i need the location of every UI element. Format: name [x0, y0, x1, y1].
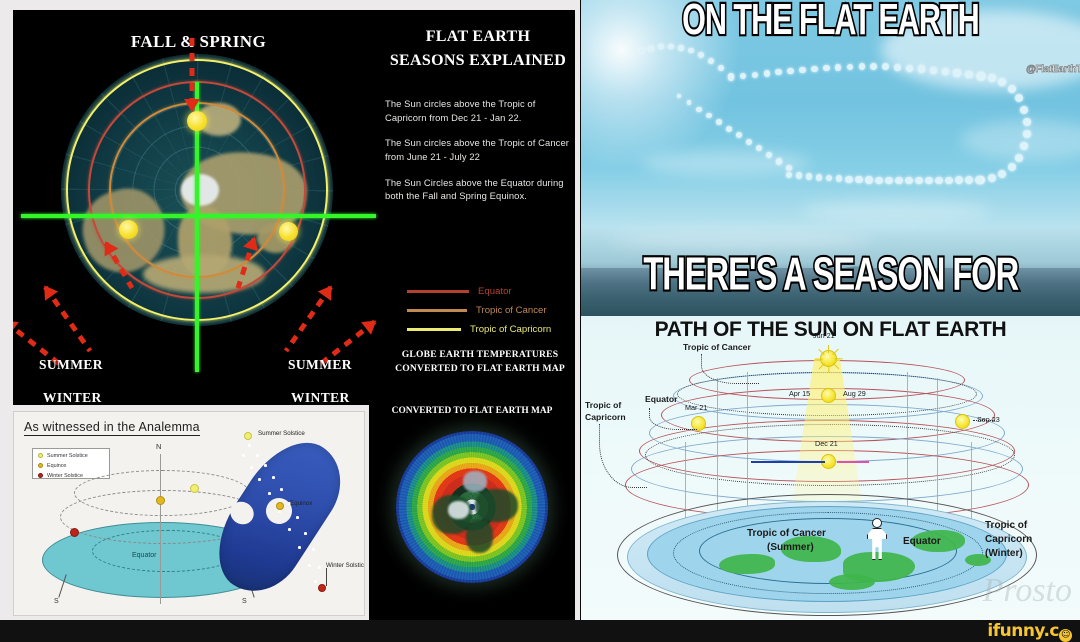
- legend-label-equator: Equator: [478, 286, 512, 297]
- sun-apr15-aug29: [821, 388, 836, 403]
- analemma-legend-label-equinox: Equinox: [47, 463, 66, 469]
- dashed-arrow-fall-spring: [184, 38, 200, 110]
- legend-label-tropic-of-capricorn: Tropic of Capricorn: [470, 324, 551, 335]
- sun-path-dot: [906, 65, 913, 72]
- disc-label-tropic-of-capricorn-line2: Capricorn: [985, 534, 1032, 546]
- analemma-figure-eight: Summer Solstice Equinox Winter Solstice: [222, 428, 346, 606]
- sun-marker-right: [279, 222, 298, 241]
- sun-path-dot: [706, 113, 711, 118]
- sun-path-dot: [930, 67, 937, 74]
- sun-path-dot: [977, 72, 985, 80]
- observer-figure-icon: [867, 518, 887, 560]
- sun-path-dot: [835, 64, 842, 71]
- sun-path-dot: [865, 176, 872, 183]
- sun-path-dot: [859, 63, 866, 70]
- temperature-globe-image: [396, 431, 548, 583]
- sun-path-dot: [816, 174, 823, 181]
- sun-path-dot: [988, 74, 996, 82]
- sun-path-dot: [925, 177, 933, 185]
- sun-path-dot: [988, 174, 996, 182]
- sun-path-dot: [998, 170, 1006, 178]
- sun-path-dot: [668, 44, 673, 49]
- analemma-legend-row-equinox: Equinox: [36, 461, 106, 470]
- meme-image: FALL & SPRING: [0, 0, 1080, 642]
- analemma-marker-equinox: [276, 502, 284, 510]
- sun-path-dot: [953, 69, 960, 76]
- sun-path-dot: [658, 44, 663, 49]
- analemma-legend-dot-winter-solstice: [38, 473, 43, 478]
- analemma-sun-winter-solstice: [70, 528, 79, 537]
- sun-marker-left: [119, 220, 138, 239]
- sun-path-dot: [746, 139, 752, 145]
- analemma-polar-axis: [160, 454, 161, 604]
- sun-path-dot: [776, 158, 782, 164]
- disc-label-tropic-of-cancer-line2: (Summer): [767, 542, 814, 554]
- sun-path-dot: [639, 48, 644, 53]
- temperature-globe-card: CONVERTED TO FLAT EARTH MAP: [369, 404, 575, 620]
- sun-path-dot: [726, 126, 732, 132]
- sun-path-dot: [764, 70, 770, 76]
- legend-row-tropic-of-capricorn: Tropic of Capricorn: [385, 320, 571, 339]
- sun-path-dot: [955, 176, 963, 184]
- sun-path-dot: [806, 173, 813, 180]
- disc-continent-1: [719, 554, 775, 574]
- analemma-legend-dot-equinox: [38, 463, 43, 468]
- leader-tropic-capricorn: [599, 424, 647, 488]
- flat-earth-map-figure: FALL & SPRING: [21, 18, 376, 358]
- date-label-sep-23: Sep 23: [977, 416, 1000, 425]
- sun-sep23: [955, 414, 970, 429]
- sun-path-dot: [786, 172, 793, 179]
- sun-path-dot: [716, 119, 721, 124]
- date-label-apr-15: Apr 15: [789, 390, 810, 399]
- temp-continent-2: [475, 489, 518, 522]
- sun-path-dot: [728, 75, 734, 81]
- sun-marker-top: [187, 111, 207, 131]
- label-equator-mid: Equator: [645, 394, 677, 404]
- sun-path-dot: [752, 72, 758, 78]
- infographic-title-line2: SEASONS EXPLAINED: [385, 50, 571, 72]
- temperature-globe-texture: [396, 431, 548, 583]
- disc-label-tropic-of-cancer-line1: Tropic of Cancer: [747, 528, 826, 540]
- analemma-marker-leader-winter: [326, 568, 327, 586]
- sun-path-dot: [826, 175, 833, 182]
- sun-path-diagram: PATH OF THE SUN ON FLAT EARTH: [581, 316, 1080, 620]
- dec21-arm-right: [837, 461, 869, 463]
- flat-earth-seasons-infographic: FALL & SPRING: [13, 10, 575, 405]
- sun-path-dot: [698, 52, 704, 58]
- label-tropic-of-capricorn-left-line2: Capricorn: [585, 412, 626, 422]
- analemma-marker-summer-solstice: [244, 432, 252, 440]
- sun-path-dot: [1020, 106, 1028, 114]
- sun-path-dot: [1023, 130, 1031, 138]
- photographer-script-watermark: Prosto: [983, 572, 1072, 610]
- sun-path-dot: [855, 176, 862, 183]
- legend-label-tropic-of-cancer: Tropic of Cancer: [476, 305, 547, 316]
- cloud-2: [641, 150, 811, 176]
- date-label-aug-29: Aug 29: [843, 390, 866, 399]
- disc-continent-5: [829, 574, 875, 590]
- sun-path-dot: [905, 177, 912, 184]
- infographic-paragraph-1: The Sun circles above the Tropic of Capr…: [385, 97, 571, 124]
- temperature-globe-caption: CONVERTED TO FLAT EARTH MAP: [369, 406, 575, 416]
- sun-path-dot: [823, 65, 830, 72]
- globe-temperatures-heading-line2: CONVERTED TO FLAT EARTH MAP: [385, 362, 575, 376]
- globe-temperatures-heading: GLOBE EARTH TEMPERATURES CONVERTED TO FL…: [385, 348, 575, 376]
- analemma-figure-label-equinox: Equinox: [290, 500, 312, 507]
- disc-label-equator: Equator: [903, 536, 941, 548]
- ifunny-logo-text: ifunny.c: [987, 621, 1059, 641]
- sun-path-dot: [965, 176, 973, 184]
- sun-path-dot: [915, 177, 923, 185]
- season-label-winter-right: WINTER: [291, 390, 350, 405]
- analemma-legend-row-summer-solstice: Summer Solstice: [36, 451, 106, 460]
- analemma-legend-dot-summer-solstice: [38, 453, 43, 458]
- sun-path-dot: [696, 107, 701, 112]
- legend-swatch-tropic-of-capricorn: [407, 328, 461, 331]
- sun-path-dot: [1008, 163, 1016, 171]
- disc-label-tropic-of-capricorn-line3: (Winter): [985, 548, 1023, 560]
- sun-path-dot: [975, 176, 983, 184]
- sun-path-dot: [895, 177, 902, 184]
- temp-continent-3: [466, 519, 493, 552]
- sun-path-dot: [836, 175, 843, 182]
- sun-path-dot: [678, 45, 684, 51]
- sun-path-dot: [796, 172, 803, 179]
- analemma-equator-label: Equator: [132, 552, 157, 559]
- sun-path-dot: [875, 177, 882, 184]
- right-panel: ON THE FLAT EARTH THERE'S A SEASON FOR E…: [581, 0, 1080, 620]
- analemma-sun-summer-solstice: [190, 484, 199, 493]
- legend-row-tropic-of-cancer: Tropic of Cancer: [385, 301, 571, 320]
- sun-path-dot: [799, 67, 805, 73]
- sun-path-dot: [845, 176, 852, 183]
- label-tropic-of-cancer-top: Tropic of Cancer: [683, 342, 751, 352]
- analemma-legend: Summer Solstice Equinox Winter Solstice: [32, 448, 110, 479]
- sun-path-dot: [870, 63, 877, 70]
- temp-continent-4: [463, 471, 487, 492]
- dashed-arrow-summer-left: [40, 283, 96, 355]
- analemma-title: As witnessed in the Analemma: [24, 420, 200, 436]
- analemma-legend-label-winter-solstice: Winter Solstice: [47, 473, 83, 479]
- sun-path-dot: [882, 63, 889, 70]
- globe-temperatures-heading-line1: GLOBE EARTH TEMPERATURES: [385, 348, 575, 362]
- season-label-summer-right: SUMMER: [288, 357, 352, 373]
- label-tropic-of-capricorn-left-line1: Tropic of: [585, 400, 621, 410]
- sun-path-dot: [1023, 118, 1031, 126]
- sun-path-dot: [945, 177, 953, 185]
- infographic-paragraph-3: The Sun Circles above the Equator during…: [385, 176, 571, 203]
- ifunny-smiley-icon: ☺: [1059, 629, 1072, 642]
- sun-path-dot: [811, 66, 818, 73]
- analemma-card: As witnessed in the Analemma Summer Sols…: [13, 411, 365, 616]
- sun-path-dot: [935, 177, 943, 185]
- meme-middle-text: THERE'S A SEASON FOR: [581, 256, 1080, 293]
- date-label-jun-21: Jun 21: [813, 332, 835, 341]
- ifunny-logo[interactable]: ifunny.c☺: [987, 621, 1072, 642]
- infographic-text-column: FLAT EARTH SEASONS EXPLAINED The Sun cir…: [385, 18, 571, 398]
- sun-path-dot: [942, 68, 949, 75]
- legend-swatch-tropic-of-cancer: [407, 309, 467, 312]
- sun-path-dot: [847, 64, 854, 71]
- legend-row-equator: Equator: [385, 282, 571, 301]
- cloud-3: [801, 200, 991, 222]
- meme-top-text-inner: ON THE FLAT EARTH: [682, 0, 979, 46]
- flat-earth-handle-watermark: @FlatEarthT: [1026, 64, 1080, 75]
- observer-body: [867, 528, 887, 560]
- temp-continent-5: [448, 501, 469, 519]
- analemma-marker-winter-solstice: [318, 584, 326, 592]
- infographic-legend: Equator Tropic of Cancer Tropic of Capri…: [385, 282, 571, 339]
- dec21-arm-left: [751, 461, 825, 463]
- season-label-winter-left: WINTER: [43, 390, 102, 405]
- analemma-legend-label-summer-solstice: Summer Solstice: [47, 453, 88, 459]
- sun-path-dot: [885, 177, 892, 184]
- observer-head: [872, 518, 882, 528]
- infographic-paragraph-2: The Sun circles above the Tropic of Canc…: [385, 136, 571, 163]
- sun-path-dot: [1015, 94, 1023, 102]
- sun-path-dot: [775, 69, 781, 75]
- infographic-title-line1: FLAT EARTH: [385, 26, 571, 48]
- legend-swatch-equator: [407, 290, 469, 293]
- disc-label-tropic-of-capricorn-line1: Tropic of: [985, 520, 1027, 532]
- date-label-mar-21: Mar 21: [685, 404, 707, 413]
- analemma-sun-equinox: [156, 496, 165, 505]
- meme-middle-text-inner: THERE'S A SEASON FOR: [643, 248, 1018, 302]
- left-panel: FALL & SPRING: [0, 0, 580, 620]
- sun-path-dot: [648, 46, 653, 51]
- season-label-summer-left: SUMMER: [39, 357, 103, 373]
- sun-path-dot: [918, 65, 925, 72]
- sun-path-dot: [1015, 154, 1023, 162]
- analemma-south-label-left: S: [54, 598, 59, 605]
- sun-path-dot: [1008, 85, 1016, 93]
- analemma-figure-label-winter-solstice: Winter Solstice: [326, 562, 365, 569]
- date-label-dec-21: Dec 21: [815, 440, 838, 449]
- analemma-north-label: N: [156, 442, 161, 451]
- sun-path-dot: [736, 132, 742, 138]
- sun-jun21-rays: [811, 342, 845, 376]
- sun-path-dot: [787, 68, 793, 74]
- bottom-bar: ifunny.c☺: [0, 620, 1080, 642]
- analemma-figure-label-summer-solstice: Summer Solstice: [258, 430, 305, 437]
- meme-top-text: ON THE FLAT EARTH: [581, 4, 1080, 38]
